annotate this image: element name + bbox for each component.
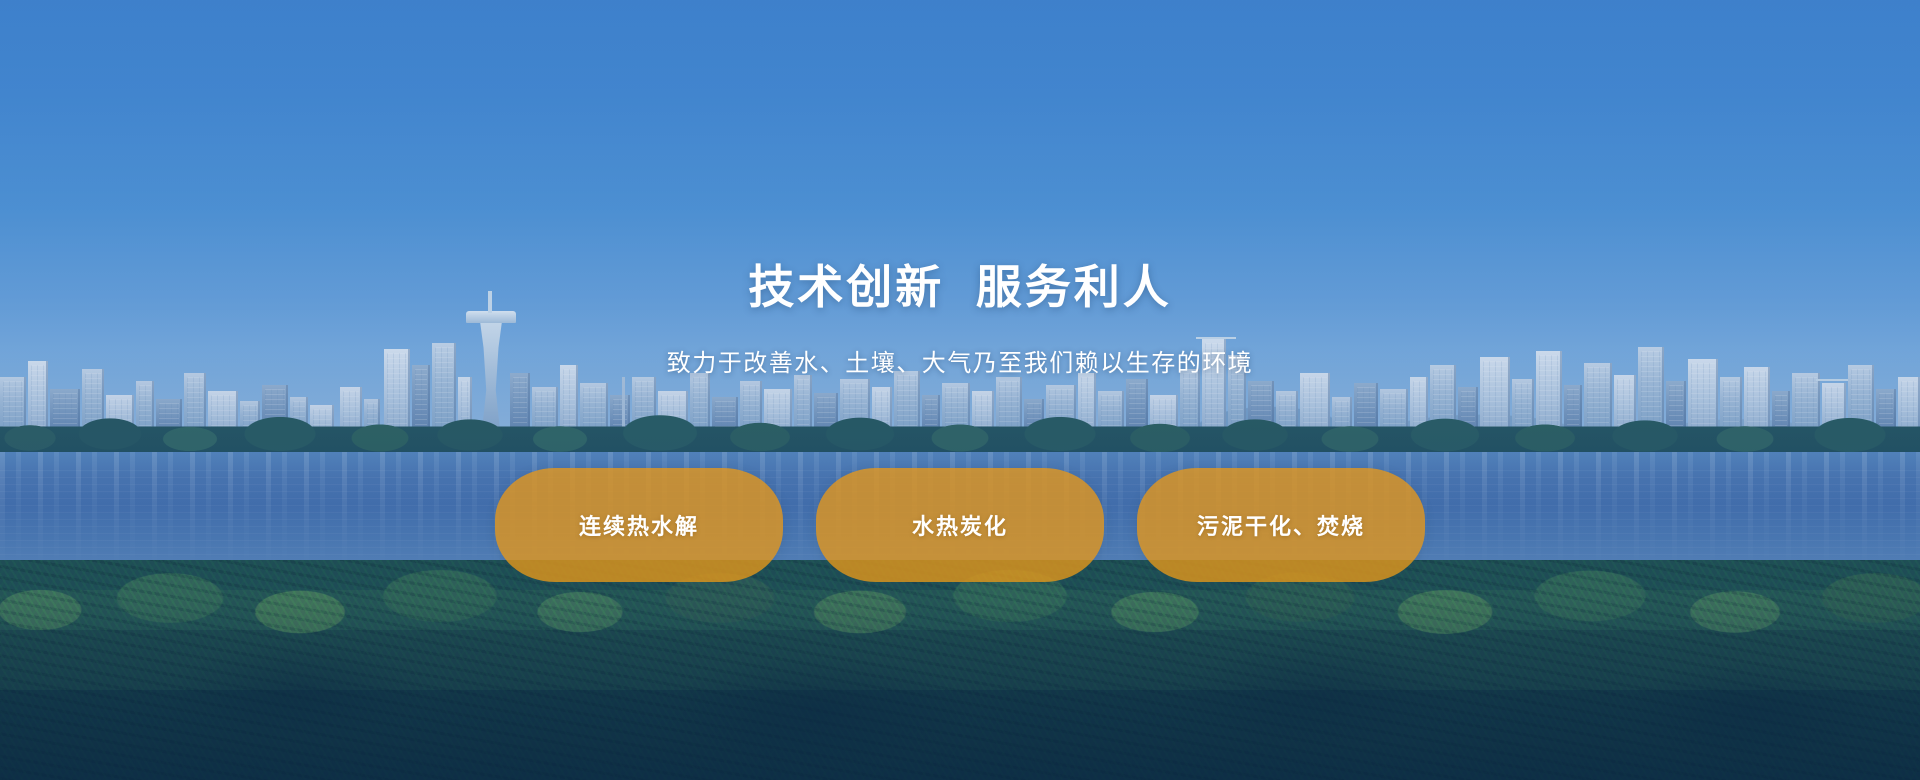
hero-banner: 技术创新 服务利人 致力于改善水、土壤、大气乃至我们赖以生存的环境 连续热水解 … bbox=[0, 0, 1920, 780]
hero-title: 技术创新 服务利人 bbox=[0, 262, 1920, 313]
service-button-sludge-drying-incineration[interactable]: 污泥干化、焚烧 bbox=[1137, 468, 1425, 582]
service-button-hydrothermal-carbonization[interactable]: 水热炭化 bbox=[816, 468, 1104, 582]
hero-subtitle: 致力于改善水、土壤、大气乃至我们赖以生存的环境 bbox=[0, 349, 1920, 379]
service-button-row: 连续热水解 水热炭化 污泥干化、焚烧 bbox=[0, 468, 1920, 582]
hero-content: 技术创新 服务利人 致力于改善水、土壤、大气乃至我们赖以生存的环境 连续热水解 … bbox=[0, 0, 1920, 780]
service-button-continuous-thermal-hydrolysis[interactable]: 连续热水解 bbox=[495, 468, 783, 582]
